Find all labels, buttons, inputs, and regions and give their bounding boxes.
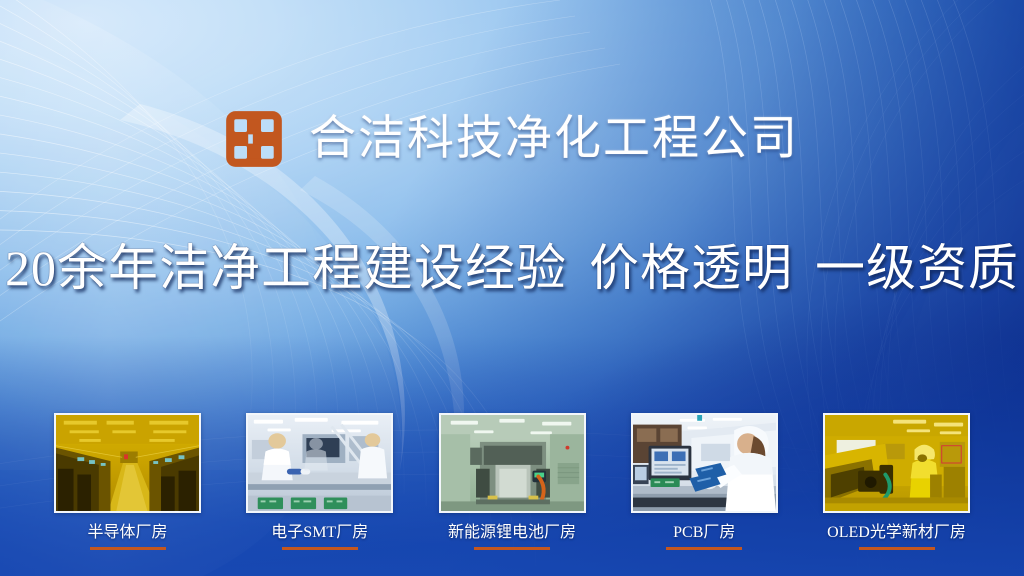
- thumbnail-caption-semiconductor: 半导体厂房: [87, 523, 167, 543]
- thumbnail-image-oled[interactable]: [823, 413, 970, 513]
- thumbnail-item-semiconductor[interactable]: 半导体厂房: [40, 413, 215, 550]
- headline-part-3: 一级资质: [815, 240, 1019, 296]
- thumbnail-image-semiconductor[interactable]: [54, 413, 201, 513]
- caption-underline: [859, 547, 935, 550]
- brand-header: 合洁科技净化工程公司: [0, 110, 1024, 168]
- thumbnail-item-pcb[interactable]: PCB厂房: [617, 413, 792, 550]
- headline-part-1: 20余年洁净工程建设经验: [5, 240, 567, 296]
- thumbnail-caption-smt: 电子SMT厂房: [271, 523, 368, 543]
- thumbnail-item-battery[interactable]: 新能源锂电池厂房: [425, 413, 600, 550]
- caption-underline: [666, 547, 742, 550]
- facility-thumbnail-strip: 半导体厂房: [40, 413, 984, 550]
- caption-underline: [90, 547, 166, 550]
- thumbnail-image-battery[interactable]: [439, 413, 586, 513]
- thumbnail-caption-pcb: PCB厂房: [673, 523, 735, 543]
- headline-part-2: 价格透明: [589, 240, 793, 296]
- thumbnail-caption-battery: 新能源锂电池厂房: [448, 523, 576, 543]
- caption-underline: [474, 547, 550, 550]
- thumbnail-item-oled[interactable]: OLED光学新材厂房: [809, 413, 984, 550]
- h-monogram-logo-icon: [225, 110, 283, 168]
- page-title: 20余年洁净工程建设经验价格透明一级资质: [0, 240, 1024, 296]
- caption-underline: [282, 547, 358, 550]
- thumbnail-image-smt[interactable]: [246, 413, 393, 513]
- thumbnail-caption-oled: OLED光学新材厂房: [827, 523, 966, 543]
- company-name: 合洁科技净化工程公司: [309, 116, 799, 163]
- thumbnail-item-smt[interactable]: 电子SMT厂房: [232, 413, 407, 550]
- promo-banner: 合洁科技净化工程公司 20余年洁净工程建设经验价格透明一级资质: [0, 0, 1024, 576]
- thumbnail-image-pcb[interactable]: [631, 413, 778, 513]
